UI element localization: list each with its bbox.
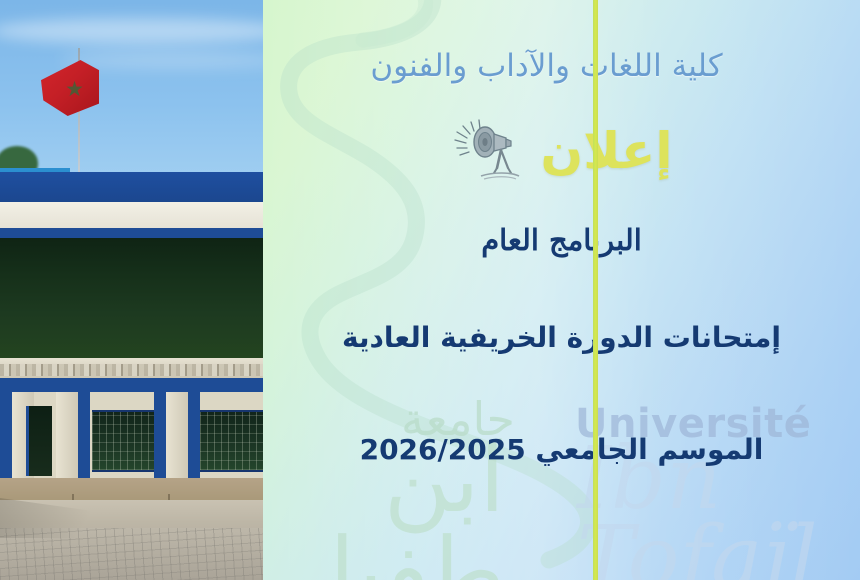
flag-star-icon: ★ [66,80,84,98]
photo-cloud [0,18,263,44]
photo-column [0,392,12,490]
megaphone-icon [451,118,523,184]
photo-column [78,392,90,490]
photo-arcade-band [0,378,263,392]
program-title: البرنامج العام [263,222,860,260]
announcement-title: إعلان [541,124,673,179]
photo-window-grille [200,412,263,470]
academic-year: الموسم الجامعي 2026/2025 [263,432,860,468]
text-panel: جامعة ابن طفيل Université Ibn Tofaïl كلي… [263,0,860,580]
panel-divider [593,0,598,580]
faculty-heading: كلية اللغات والآداب والفنون [263,48,830,86]
campus-building-photo: ★ [0,0,263,580]
session-title: إمتحانات الدورة الخريفية العادية [263,320,860,356]
announcement-poster: جامعة ابن طفيل Université Ibn Tofaïl كلي… [0,0,860,580]
photo-doorway [26,406,52,476]
photo-fascia-blue [0,228,263,238]
announcement-row: إعلان [263,118,860,184]
photo-column [56,392,78,490]
photo-roof-band [0,172,263,202]
photo-window-grille [92,412,154,470]
photo-parapet-tiles [0,364,263,376]
photo-column [188,392,200,490]
photo-column [166,392,188,490]
photo-foliage-texture [0,238,263,364]
photo-window [200,410,263,472]
poster-content: كلية اللغات والآداب والفنون إعلان [263,0,860,580]
photo-column [154,392,166,490]
photo-window [92,410,154,472]
photo-arcade [0,392,263,490]
